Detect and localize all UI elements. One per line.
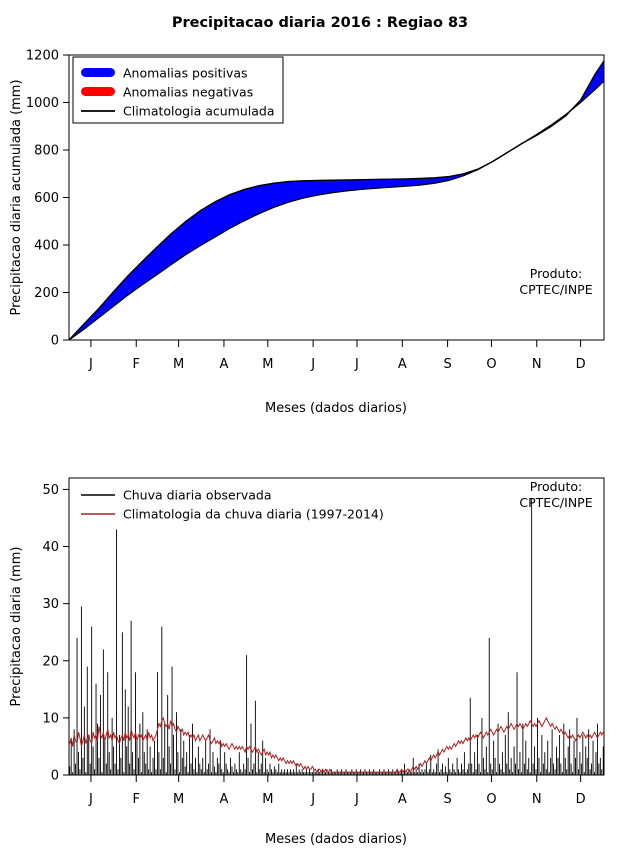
x-tick-label-5: J (310, 357, 315, 372)
y-tick-label-20: 20 (42, 654, 59, 669)
x-tick-label-5: J (310, 792, 315, 807)
y-tick-label-40: 40 (42, 540, 59, 555)
x-tick-label-11: D (576, 792, 586, 807)
x-tick-label-9: O (486, 357, 496, 372)
legend-label-0: Anomalias positivas (123, 66, 248, 81)
legend-label-1: Anomalias negativas (123, 85, 253, 100)
x-axis-label: Meses (dados diarios) (265, 832, 407, 847)
x-tick-label-0: J (88, 357, 93, 372)
x-tick-label-10: N (532, 792, 542, 807)
x-tick-label-9: O (486, 792, 496, 807)
x-tick-label-0: J (88, 792, 93, 807)
y-tick-label-200: 200 (34, 286, 59, 301)
x-tick-label-3: A (219, 792, 228, 807)
y-tick-label-800: 800 (34, 144, 59, 159)
x-tick-label-6: J (354, 792, 359, 807)
x-tick-label-8: S (443, 357, 451, 372)
y-axis-label: Precipitacao diaria acumulada (mm) (9, 79, 24, 315)
y-axis-label: Precipitacao diaria (mm) (9, 547, 24, 707)
x-tick-label-4: M (262, 357, 273, 372)
negative-anomaly-area-1 (522, 100, 580, 143)
x-tick-label-2: M (173, 357, 184, 372)
legend-swatch-0 (81, 68, 115, 77)
x-tick-label-1: F (132, 357, 139, 372)
producer-line-1: Produto: (530, 479, 582, 494)
x-tick-label-4: M (262, 792, 273, 807)
producer-line-2: CPTEC/INPE (519, 282, 592, 297)
daily-precipitation-chart: 01020304050JFMAMJJASONDPrecipitacao diar… (0, 425, 640, 850)
y-tick-label-0: 0 (51, 334, 59, 349)
producer-line-1: Produto: (530, 266, 582, 281)
x-tick-label-2: M (173, 792, 184, 807)
legend-swatch-1 (81, 87, 115, 96)
y-tick-label-400: 400 (34, 239, 59, 254)
accumulated-chart-svg: Precipitacao diaria 2016 : Regiao 830200… (0, 0, 640, 425)
x-tick-label-7: A (398, 357, 407, 372)
y-tick-label-1000: 1000 (26, 96, 59, 111)
x-tick-label-3: A (219, 357, 228, 372)
observed-daily-bars (70, 498, 604, 775)
y-tick-label-10: 10 (42, 711, 59, 726)
x-axis-label: Meses (dados diarios) (265, 401, 407, 416)
legend-label-1: Climatologia da chuva diaria (1997-2014) (123, 507, 384, 522)
legend-label-0: Chuva diaria observada (123, 488, 272, 503)
x-tick-label-8: S (443, 792, 451, 807)
x-tick-label-7: A (398, 792, 407, 807)
figure-page: Precipitacao diaria 2016 : Regiao 830200… (0, 0, 640, 850)
chart-title: Precipitacao diaria 2016 : Regiao 83 (172, 15, 468, 31)
accumulated-precipitation-chart: Precipitacao diaria 2016 : Regiao 830200… (0, 0, 640, 425)
y-tick-label-600: 600 (34, 191, 59, 206)
producer-line-2: CPTEC/INPE (519, 495, 592, 510)
x-tick-label-11: D (576, 357, 586, 372)
y-tick-label-50: 50 (42, 483, 59, 498)
daily-chart-svg: 01020304050JFMAMJJASONDPrecipitacao diar… (0, 425, 640, 850)
x-tick-label-10: N (532, 357, 542, 372)
y-tick-label-30: 30 (42, 597, 59, 612)
positive-anomaly-area-0 (69, 134, 537, 340)
x-tick-label-6: J (354, 357, 359, 372)
y-tick-label-0: 0 (51, 769, 59, 784)
legend-label-2: Climatologia acumulada (123, 104, 275, 119)
x-tick-label-1: F (132, 792, 139, 807)
y-tick-label-1200: 1200 (26, 49, 59, 64)
